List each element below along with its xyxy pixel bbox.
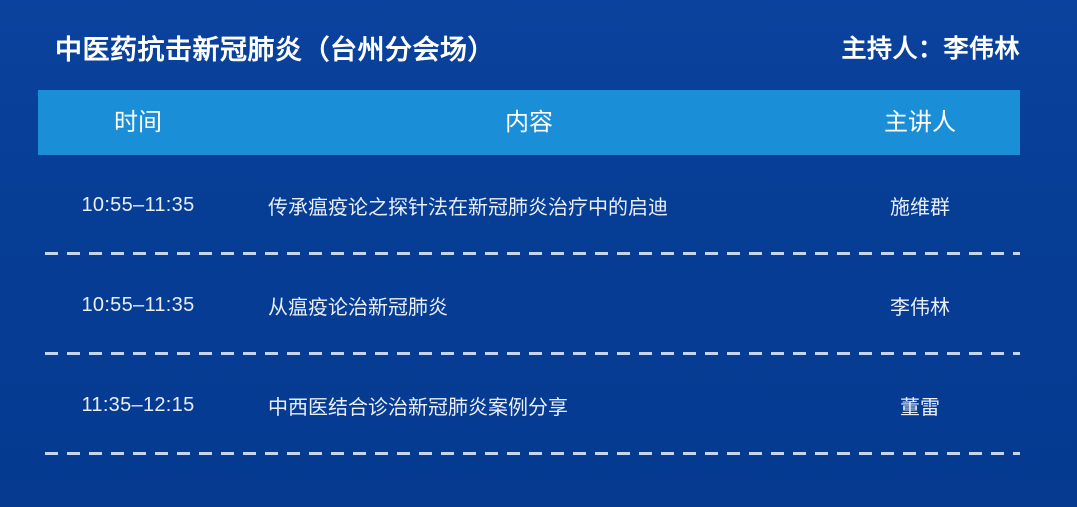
host-label: 主持人：李伟林: [841, 29, 1020, 65]
table-row: 10:55–11:35 从瘟疫论治新冠肺炎 李伟林: [38, 255, 1020, 355]
cell-speaker: 董雷: [820, 391, 1020, 420]
cell-topic: 从瘟疫论治新冠肺炎: [238, 291, 820, 320]
table-header-row: 时间 内容 主讲人: [38, 90, 1020, 155]
column-header-speaker: 主讲人: [820, 90, 1020, 155]
cell-time: 10:55–11:35: [38, 194, 238, 217]
row-divider: [45, 452, 1020, 455]
column-header-content: 内容: [238, 90, 820, 155]
page-title: 中医药抗击新冠肺炎（台州分会场）: [55, 28, 495, 67]
agenda-table: 时间 内容 主讲人 10:55–11:35 传承瘟疫论之探针法在新冠肺炎治疗中的…: [38, 90, 1020, 455]
cell-topic: 传承瘟疫论之探针法在新冠肺炎治疗中的启迪: [238, 191, 820, 220]
schedule-slide: 中医药抗击新冠肺炎（台州分会场） 主持人：李伟林 时间 内容 主讲人 10:55…: [0, 0, 1077, 507]
cell-time: 10:55–11:35: [38, 294, 238, 317]
cell-topic: 中西医结合诊治新冠肺炎案例分享: [238, 391, 820, 420]
cell-speaker: 李伟林: [820, 291, 1020, 320]
table-row: 10:55–11:35 传承瘟疫论之探针法在新冠肺炎治疗中的启迪 施维群: [38, 155, 1020, 255]
cell-time: 11:35–12:15: [38, 394, 238, 417]
cell-speaker: 施维群: [820, 191, 1020, 220]
column-header-time: 时间: [38, 90, 238, 155]
table-body: 10:55–11:35 传承瘟疫论之探针法在新冠肺炎治疗中的启迪 施维群 10:…: [38, 155, 1020, 455]
slide-header: 中医药抗击新冠肺炎（台州分会场） 主持人：李伟林: [55, 26, 1020, 68]
table-row: 11:35–12:15 中西医结合诊治新冠肺炎案例分享 董雷: [38, 355, 1020, 455]
